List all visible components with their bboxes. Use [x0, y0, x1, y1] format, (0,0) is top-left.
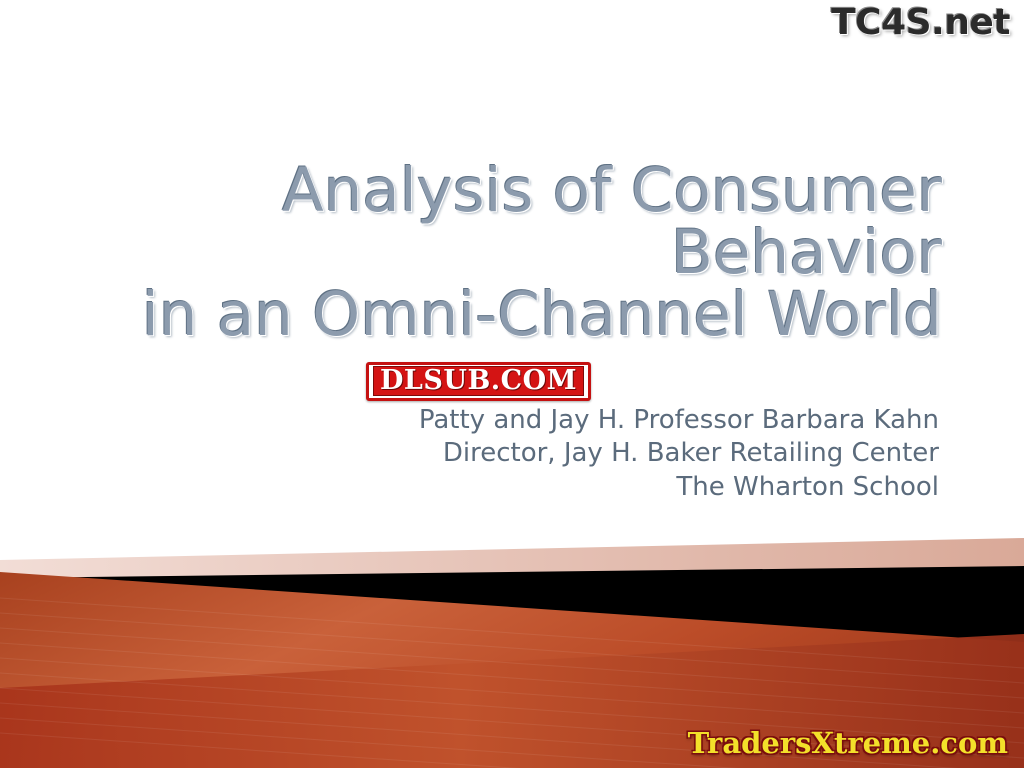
subtitle-line-institution: The Wharton School	[419, 471, 939, 504]
watermark-top-right: TC4S.net	[831, 2, 1010, 43]
subtitle-line-role: Director, Jay H. Baker Retailing Center	[419, 437, 939, 470]
slide-title: Analysis of Consumer Behavior in an Omni…	[60, 160, 942, 347]
watermark-center-text: DLSUB.COM	[380, 367, 577, 395]
presentation-slide: TC4S.net Analysis of Consumer Behavior i…	[0, 0, 1024, 768]
watermark-bottom-right: TradersXtreme.com	[688, 726, 1008, 760]
subtitle-block: Patty and Jay H. Professor Barbara Kahn …	[419, 404, 939, 504]
subtitle-line-presenter: Patty and Jay H. Professor Barbara Kahn	[419, 404, 939, 437]
watermark-center-stamp-inner: DLSUB.COM	[373, 366, 584, 396]
watermark-center-stamp: DLSUB.COM	[366, 362, 591, 401]
title-block: Analysis of Consumer Behavior in an Omni…	[60, 160, 942, 347]
